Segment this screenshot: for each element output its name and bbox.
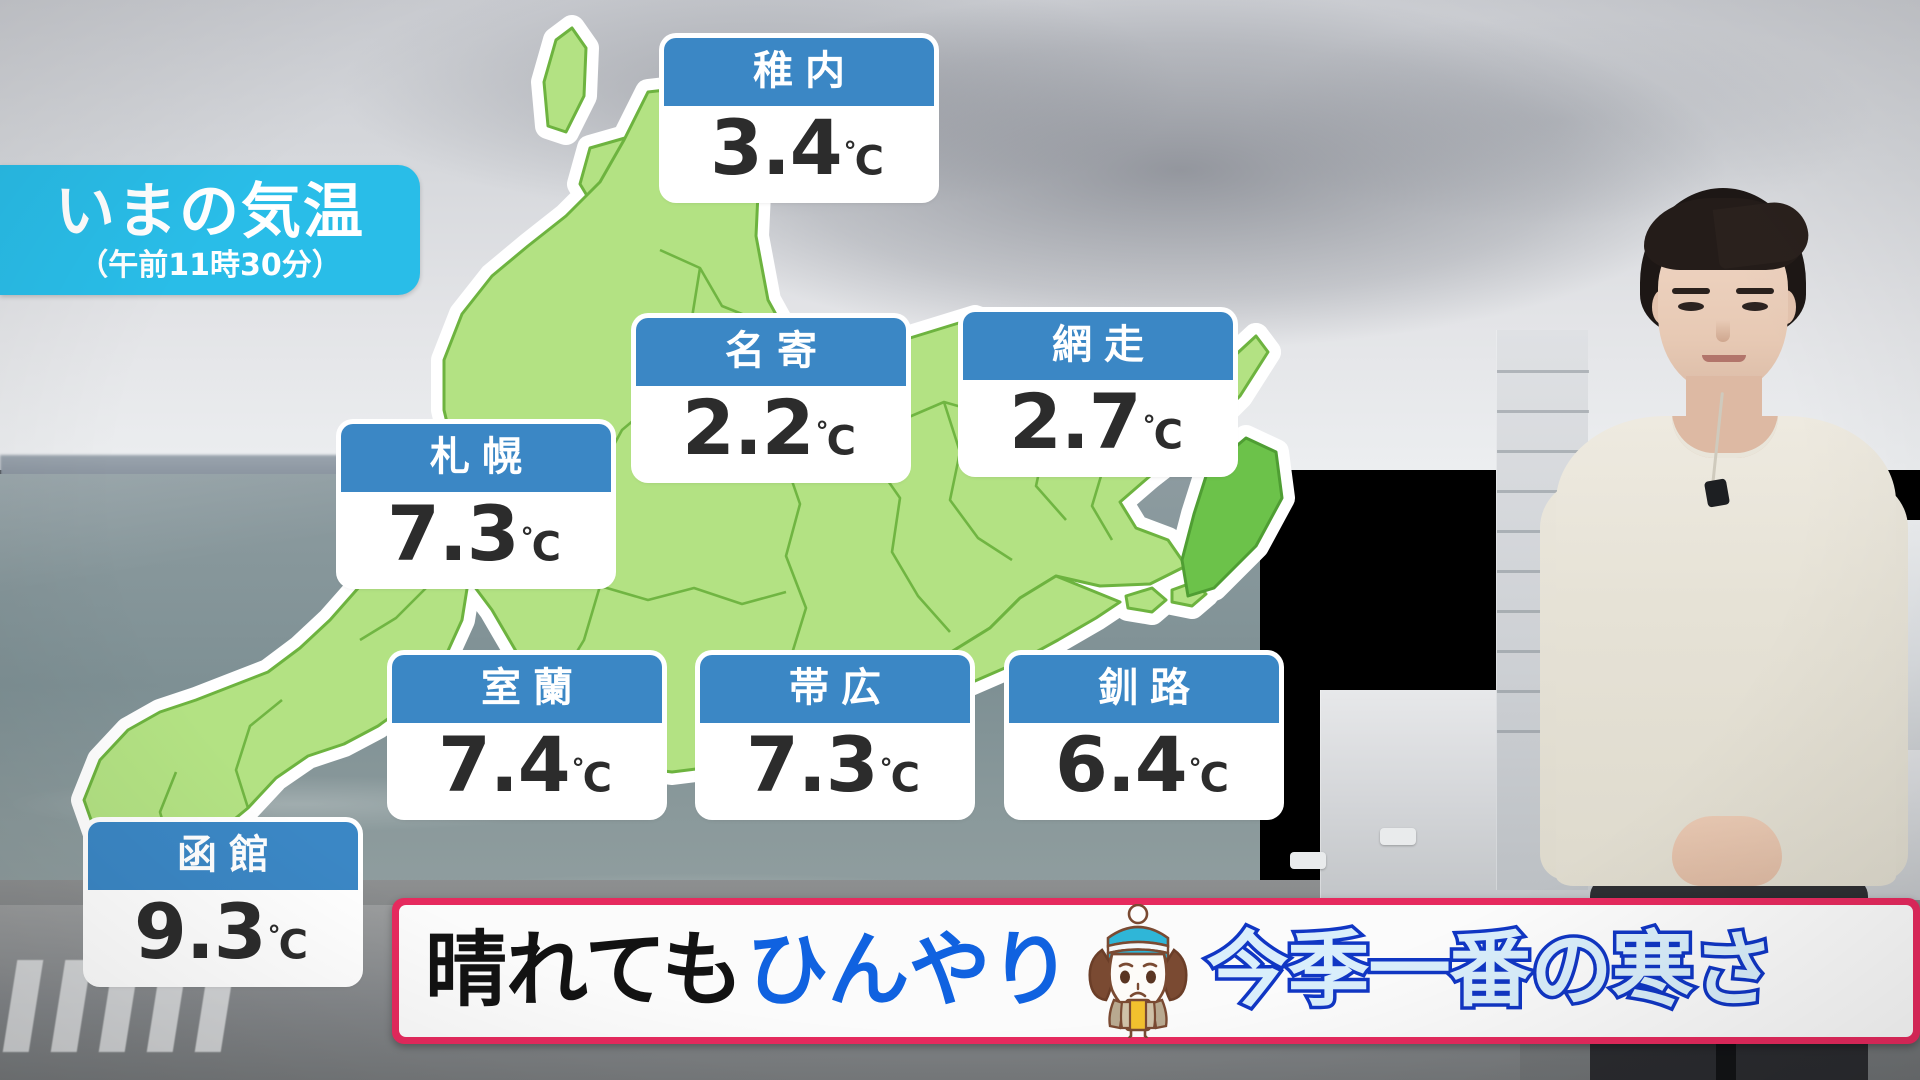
headline-segment-outlined: 今季一番の寒さ [1206,930,1773,1012]
temperature-unit: °C [1143,413,1183,455]
lapel-mic [1704,478,1730,507]
temp-card-nayoro[interactable]: 名寄 2.2 °C [636,318,906,478]
temperature-value: 9.3 [134,894,266,970]
temp-card-city-name: 札幌 [341,424,611,492]
now-temperature-title-plate: いまの気温 （午前11時30分） [0,165,420,295]
temperature-unit: °C [268,923,308,965]
temperature-unit: °C [1189,756,1229,798]
weather-dog-mascot-icon [1078,904,1198,1038]
temp-card-muroran[interactable]: 室蘭 7.4 °C [392,655,662,815]
presenter-mouth [1702,355,1746,362]
temp-card-city-name: 室蘭 [392,655,662,723]
headline-segment-black: 晴れても [425,930,742,1012]
presenter-eye [1678,302,1704,311]
temp-card-city-name: 稚内 [664,38,934,106]
headline-segment-blue: ひんやり [746,930,1070,1012]
temperature-unit: °C [816,419,856,461]
temp-card-abashiri[interactable]: 網走 2.7 °C [963,312,1233,472]
temp-card-value-area: 3.4 °C [664,106,934,198]
temperature-unit: °C [521,525,561,567]
temperature-value: 3.4 [710,110,842,186]
temp-card-kushiro[interactable]: 釧路 6.4 °C [1009,655,1279,815]
temp-card-hakodate[interactable]: 函館 9.3 °C [88,822,358,982]
temp-card-city-name: 網走 [963,312,1233,380]
temp-card-value-area: 2.7 °C [963,380,1233,472]
temp-card-value-area: 7.3 °C [700,723,970,815]
temp-card-wakkanai[interactable]: 稚内 3.4 °C [664,38,934,198]
temp-card-sapporo[interactable]: 札幌 7.3 °C [341,424,611,584]
temperature-value: 6.4 [1055,727,1187,803]
presenter-hands [1672,816,1782,886]
temp-card-city-name: 名寄 [636,318,906,386]
temperature-unit: °C [844,139,884,181]
temp-card-value-area: 7.3 °C [341,492,611,584]
temperature-unit: °C [572,756,612,798]
observation-time: （午前11時30分） [78,251,342,281]
temp-card-value-area: 9.3 °C [88,890,358,982]
temperature-value: 7.3 [387,496,519,572]
presenter-eyebrow [1736,288,1774,294]
temperature-value: 7.3 [746,727,878,803]
temp-card-value-area: 2.2 °C [636,386,906,478]
temp-card-city-name: 釧路 [1009,655,1279,723]
temperature-unit: °C [880,756,920,798]
presenter-eye [1742,302,1768,311]
presenter-eyebrow [1672,288,1710,294]
temp-card-city-name: 函館 [88,822,358,890]
temperature-value: 2.7 [1009,384,1141,460]
temp-card-obihiro[interactable]: 帯広 7.3 °C [700,655,970,815]
temp-card-value-area: 7.4 °C [392,723,662,815]
temp-card-value-area: 6.4 °C [1009,723,1279,815]
headline-banner: 晴れても ひんやり [392,898,1920,1044]
headline-banner-inner: 晴れても ひんやり [399,905,1913,1037]
temp-card-city-name: 帯広 [700,655,970,723]
broadcast-screen: いまの気温 （午前11時30分） 稚内 3.4 °C 名寄 2.2 °C 網走 … [0,0,1920,1080]
page-title: いまの気温 [55,182,365,242]
presenter-nose [1716,320,1730,342]
temperature-value: 2.2 [682,390,814,466]
temperature-value: 7.4 [438,727,570,803]
